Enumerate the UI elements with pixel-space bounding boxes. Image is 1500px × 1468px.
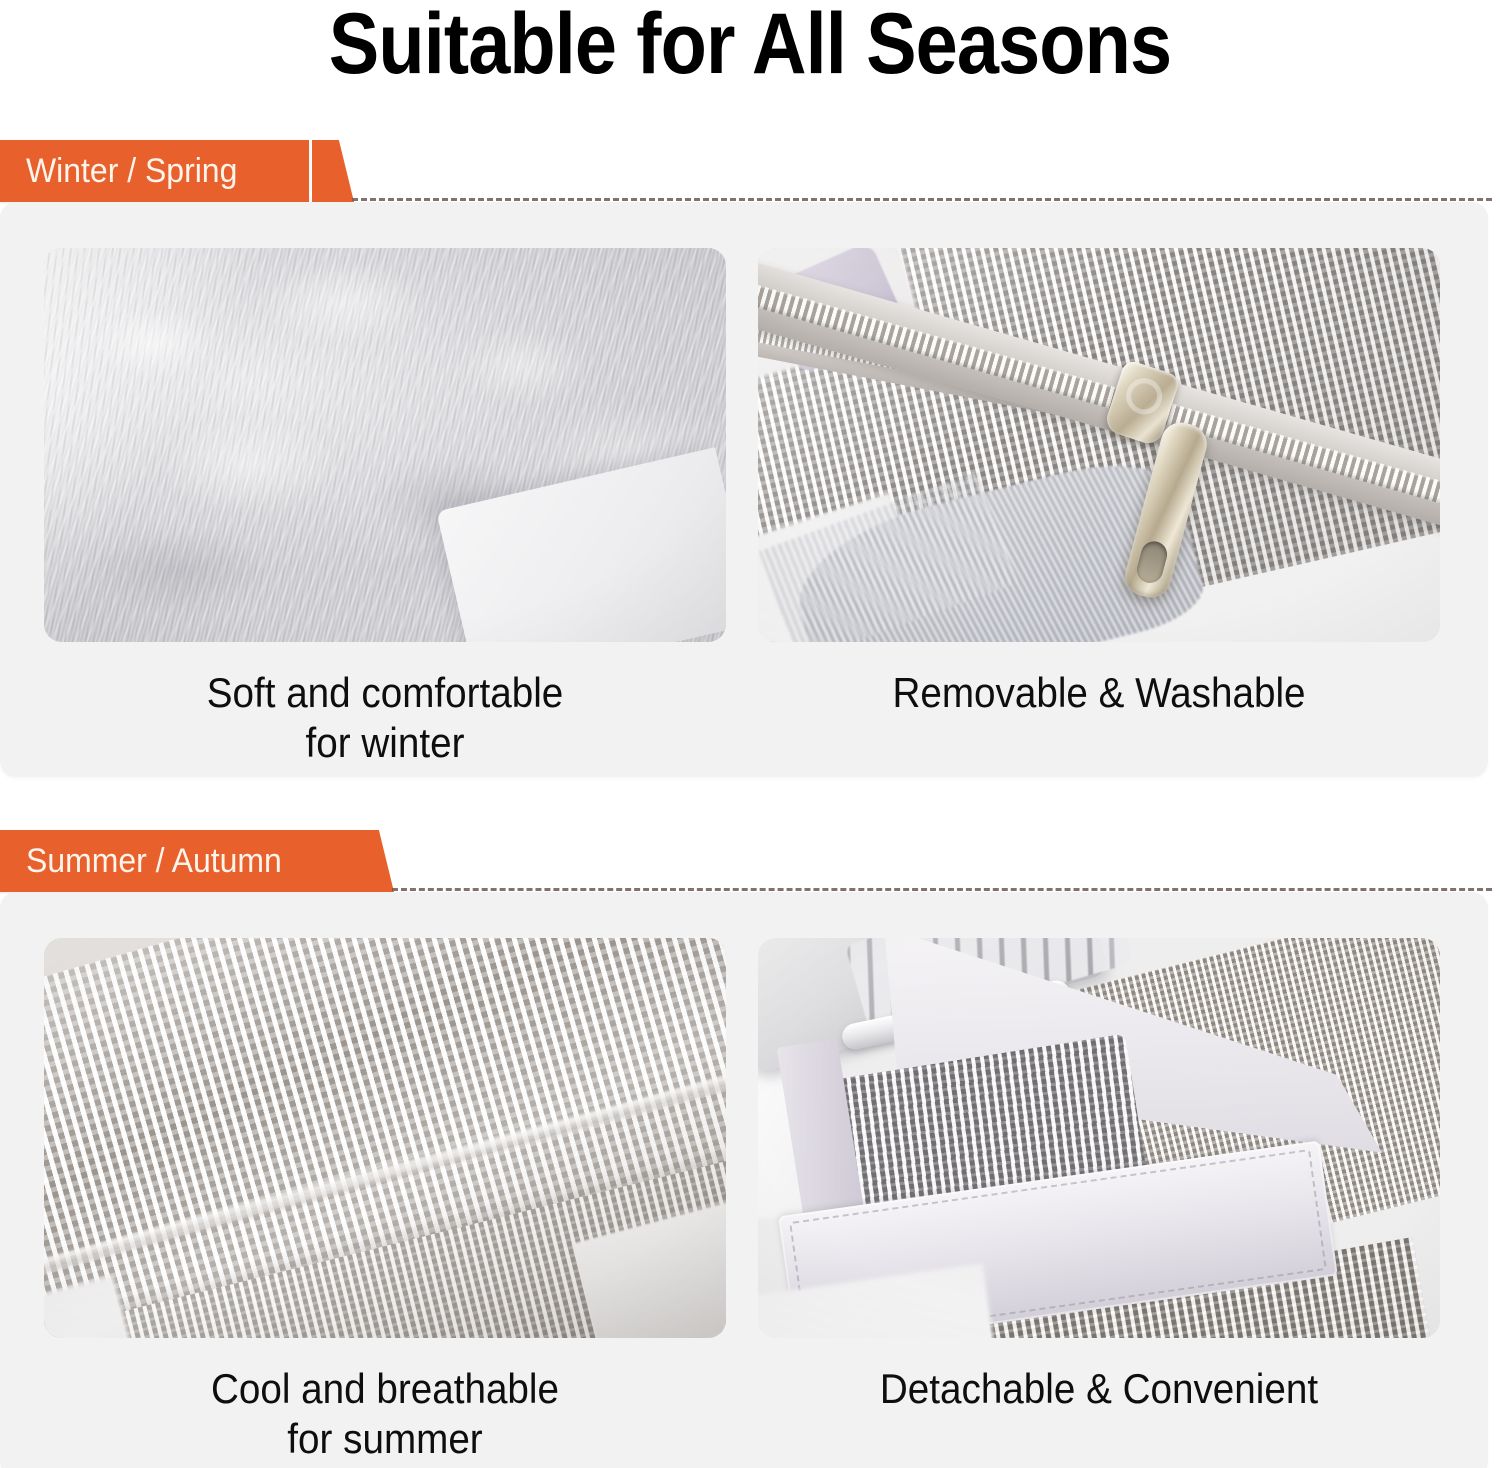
- section-2-tab-row: Summer / Autumn: [0, 830, 1500, 892]
- section-2-panel: Cool and breathable for summer: [0, 892, 1488, 1468]
- feature-card-removable-washable: Removable & Washable: [758, 248, 1440, 768]
- section-winter-spring: Winter / Spring: [0, 140, 1500, 777]
- season-tab-winter-spring[interactable]: Winter / Spring: [0, 140, 309, 202]
- breathable-mesh-weave-closeup-photo: [44, 938, 726, 1338]
- section-divider-dashed-line: [352, 198, 1492, 201]
- mesh-base-layer: [44, 938, 726, 1338]
- feature-card-cool-breathable: Cool and breathable for summer: [44, 938, 726, 1464]
- feature-caption: Soft and comfortable for winter: [71, 668, 698, 768]
- season-tab-summer-autumn[interactable]: Summer / Autumn: [0, 830, 356, 892]
- caption-line-1: Cool and breathable: [211, 1365, 559, 1412]
- feature-card-detachable: Detachable & Convenient: [758, 938, 1440, 1464]
- season-tab-label: Summer / Autumn: [26, 844, 282, 878]
- zipper-base-layer: [758, 248, 1440, 642]
- section-summer-autumn: Summer / Autumn: [0, 830, 1500, 1468]
- section-divider-dashed-line: [392, 888, 1492, 891]
- caption-line-1: Removable & Washable: [892, 669, 1305, 716]
- detachable-velcro-strap-photo: [758, 938, 1440, 1338]
- feature-caption: Cool and breathable for summer: [71, 1364, 698, 1464]
- section-1-panel: Soft and comfortable for winter: [0, 202, 1488, 777]
- season-tab-label: Winter / Spring: [26, 154, 237, 188]
- section-1-cards: Soft and comfortable for winter: [0, 248, 1488, 768]
- feature-caption: Detachable & Convenient: [785, 1364, 1412, 1414]
- tab-slant-decoration: [352, 830, 394, 892]
- feature-caption: Removable & Washable: [785, 668, 1412, 718]
- section-1-tab-row: Winter / Spring: [0, 140, 1500, 202]
- page-title: Suitable for All Seasons: [90, 0, 1410, 92]
- feature-card-soft-fur: Soft and comfortable for winter: [44, 248, 726, 768]
- product-infographic-page: Suitable for All Seasons Winter / Spring: [0, 0, 1500, 1468]
- caption-line-1: Detachable & Convenient: [880, 1365, 1318, 1412]
- grey-faux-fur-closeup-photo: [44, 248, 726, 642]
- detachable-base-layer: [758, 938, 1440, 1338]
- caption-line-2: for winter: [71, 718, 698, 768]
- section-2-cards: Cool and breathable for summer: [0, 938, 1488, 1464]
- caption-line-2: for summer: [71, 1414, 698, 1464]
- tab-slant-decoration: [312, 140, 354, 202]
- caption-line-1: Soft and comfortable: [207, 669, 564, 716]
- mesh-lighting-overlay: [44, 938, 726, 1338]
- zipper-on-mesh-cover-photo: [758, 248, 1440, 642]
